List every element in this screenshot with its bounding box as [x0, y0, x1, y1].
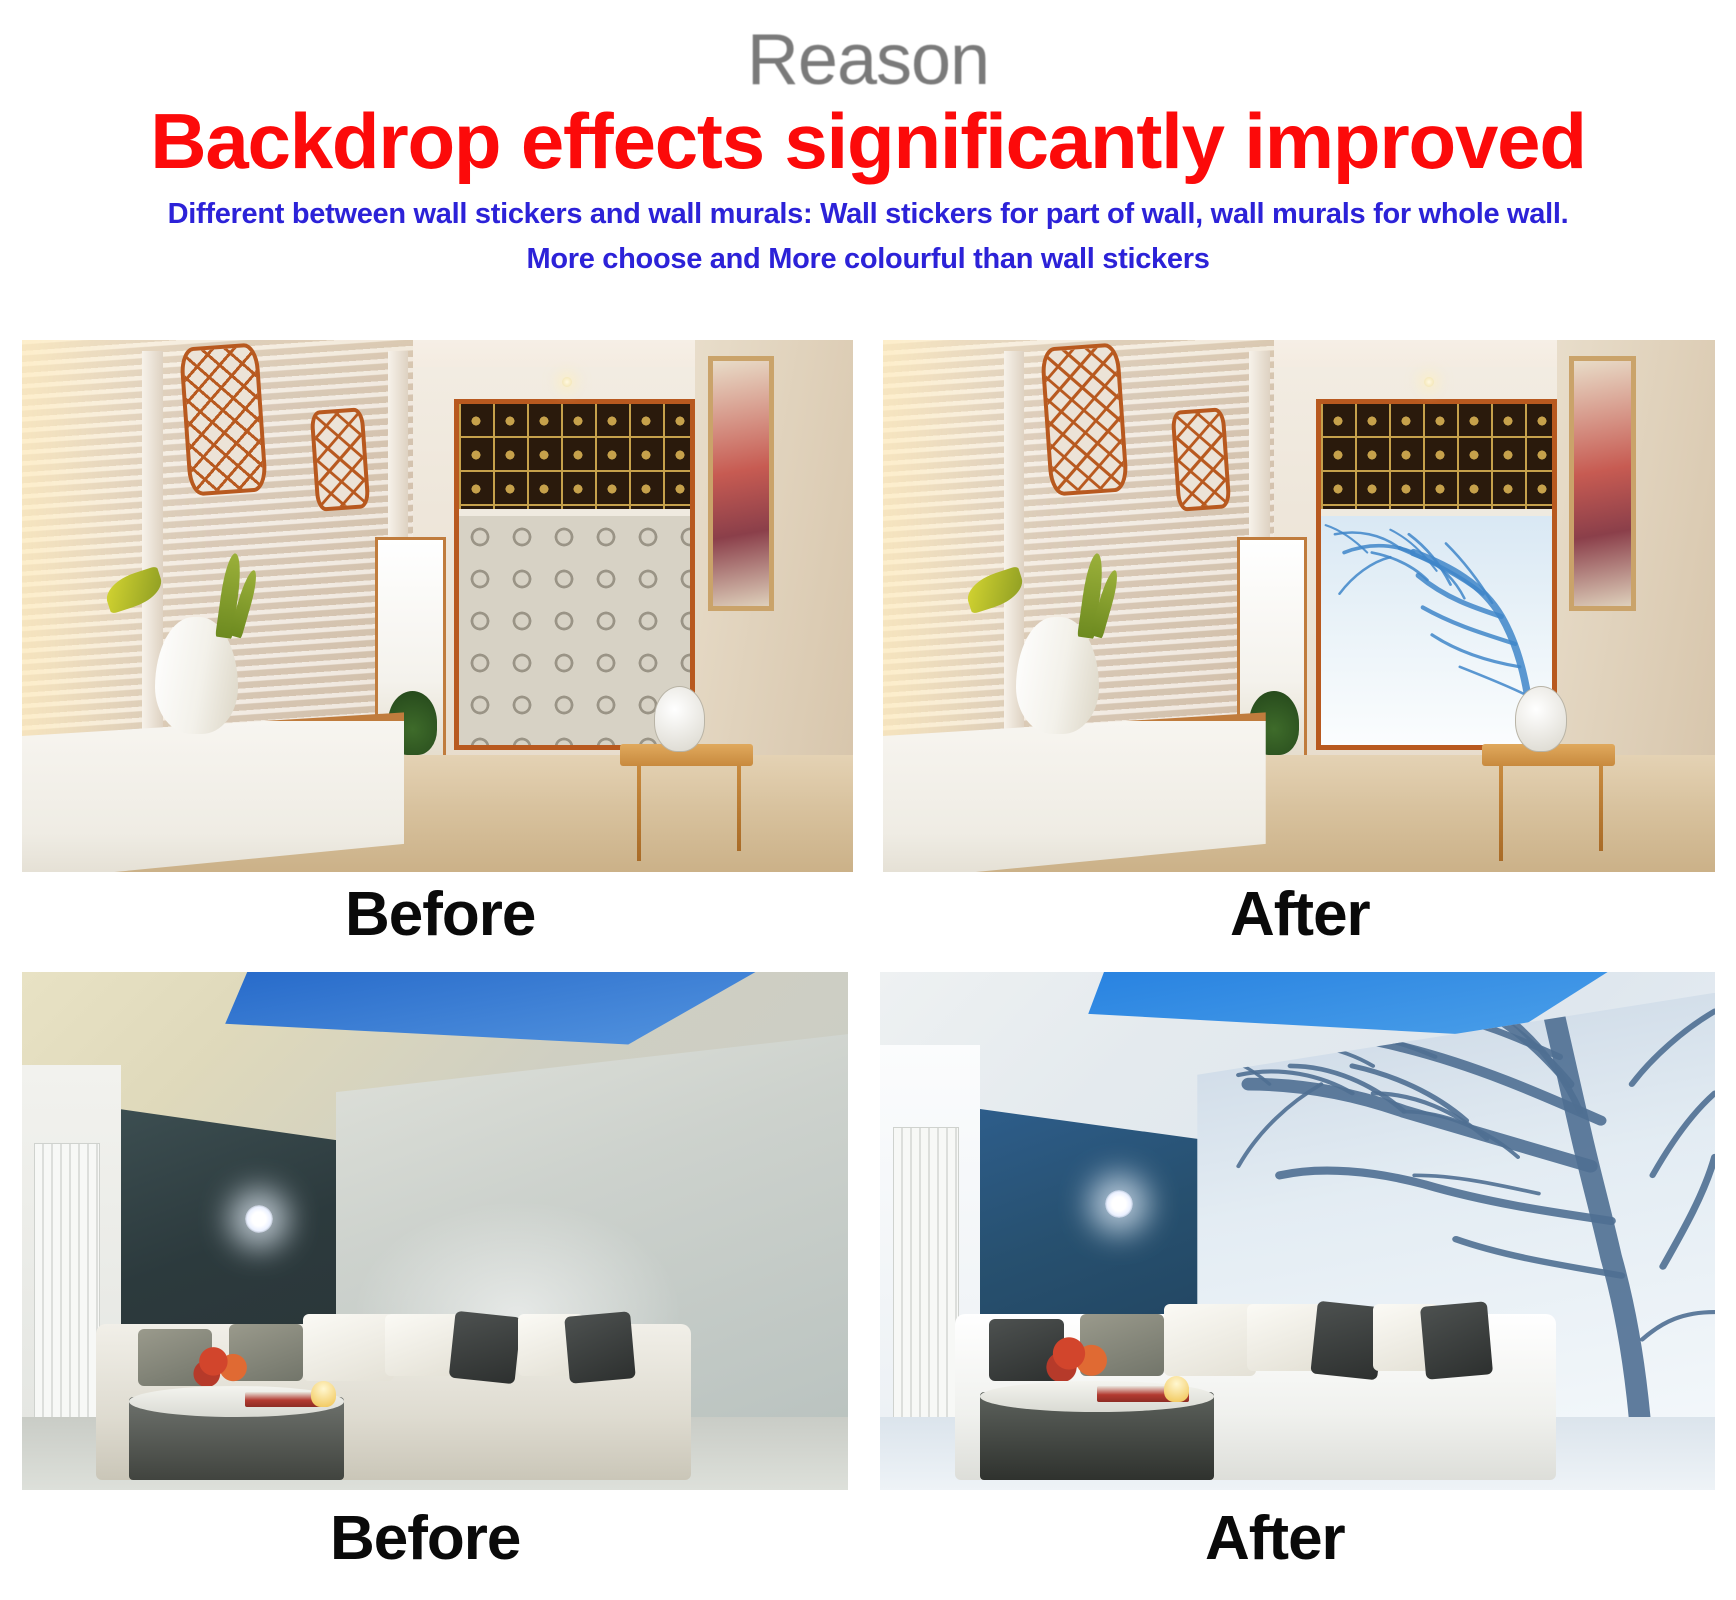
photo-lounge-before	[22, 972, 848, 1490]
wall-post-left	[142, 351, 163, 777]
book-stack	[1097, 1386, 1189, 1402]
flower-arrangement	[1039, 1335, 1114, 1382]
floor	[883, 755, 1715, 872]
candle	[311, 1381, 336, 1407]
sofa-cushion-7	[1420, 1301, 1493, 1379]
framed-artwork	[1569, 356, 1636, 611]
tree-mural-graphic	[1197, 993, 1715, 1449]
sectional-sofa	[955, 1314, 1556, 1480]
floor	[880, 1417, 1715, 1490]
console-cabinet	[22, 712, 404, 872]
wall-post-left	[1004, 351, 1025, 777]
patterned-wallpaper	[459, 516, 690, 745]
hallway-window	[1237, 537, 1308, 760]
book-stack	[245, 1392, 328, 1408]
ceramic-vase	[155, 617, 238, 734]
yellow-leaf-lamp	[963, 566, 1028, 614]
back-wall	[1274, 367, 1590, 771]
carved-transom-panel	[1321, 404, 1552, 510]
console-cabinet	[883, 712, 1266, 872]
glass-wall	[113, 1102, 344, 1434]
sofa-cushion-6	[1373, 1304, 1440, 1371]
hanging-spotlight	[1105, 1190, 1133, 1218]
framed-artwork	[708, 356, 774, 611]
yellow-leaf-lamp	[102, 566, 167, 614]
eyebrow-title: Reason	[0, 0, 1736, 98]
caption-hallway-before: Before	[345, 884, 535, 946]
plant-blade-1	[216, 552, 244, 639]
feature-wall-frame	[454, 399, 695, 750]
blue-skylight	[972, 972, 1657, 1169]
ceiling-downlight	[1424, 377, 1434, 387]
subtitle-line-2: More choose and More colourful than wall…	[0, 237, 1736, 282]
left-textured-wall	[883, 340, 1274, 872]
carved-transom-panel	[459, 404, 690, 510]
radiator	[893, 1127, 960, 1427]
tree-branch-graphic	[1321, 516, 1552, 745]
ceiling	[883, 340, 1715, 441]
sofa-cushion-5	[448, 1311, 521, 1385]
left-wall	[880, 1045, 980, 1490]
blue-tree-wall-mural	[1321, 516, 1552, 745]
page-title: Backdrop effects significantly improved	[0, 102, 1736, 180]
window-plant	[388, 691, 438, 755]
glass-wall	[972, 1102, 1206, 1423]
hallway-window	[375, 537, 446, 760]
plain-feature-wall	[336, 1034, 848, 1448]
candle	[1164, 1376, 1189, 1402]
decorative-urn	[654, 686, 706, 752]
hanging-spotlight	[245, 1205, 273, 1233]
sofa-cushion-6	[518, 1314, 584, 1376]
room-ambience	[22, 972, 848, 1490]
tree-mural-feature-wall	[1197, 993, 1715, 1449]
photo-hallway-before	[22, 340, 853, 872]
subtitle-line-1: Different between wall stickers and wall…	[0, 192, 1736, 237]
coffee-table-top	[129, 1386, 344, 1417]
photo-hallway-after	[883, 340, 1715, 872]
sofa-cushion-2	[1080, 1314, 1164, 1376]
sofa-cushion-4	[385, 1314, 459, 1376]
side-table-leg-1	[1499, 766, 1503, 862]
sofa-cushion-5	[1311, 1300, 1385, 1379]
radiator	[34, 1143, 100, 1438]
wall-light-pool	[352, 1200, 682, 1428]
decorative-urn	[1515, 686, 1567, 752]
coffee-table-top	[980, 1381, 1214, 1412]
sofa-cushion-3	[1164, 1304, 1256, 1377]
sofa-cushion-7	[564, 1311, 636, 1384]
photo-lounge-after	[880, 972, 1715, 1490]
floor	[22, 755, 853, 872]
wall-ornament-small	[309, 407, 370, 512]
coffee-table	[129, 1397, 344, 1480]
sofa-cushion-1	[138, 1329, 212, 1386]
coffee-table	[980, 1392, 1214, 1480]
right-wall	[1557, 340, 1715, 808]
wall-ornament-large	[1040, 343, 1129, 497]
ceramic-vase	[1016, 617, 1099, 734]
caption-lounge-before: Before	[330, 1508, 520, 1570]
plant-blade-2	[1090, 568, 1122, 638]
back-wall	[413, 367, 729, 771]
side-table	[1482, 744, 1615, 765]
side-table	[620, 744, 753, 765]
side-table-leg-2	[1599, 766, 1603, 851]
flower-arrangement	[187, 1345, 253, 1386]
sofa-cushion-3	[303, 1314, 394, 1381]
sofa-cushion-2	[229, 1324, 303, 1381]
plant-blade-1	[1077, 552, 1105, 639]
sofa-cushion-4	[1247, 1304, 1322, 1371]
header: Reason Backdrop effects significantly im…	[0, 0, 1736, 282]
subtitle-block: Different between wall stickers and wall…	[0, 192, 1736, 282]
room-ambience	[880, 972, 1715, 1490]
plant-blade-2	[229, 568, 261, 638]
floor	[22, 1417, 848, 1490]
wall-ornament-large	[179, 343, 268, 497]
ceiling-downlight	[562, 377, 572, 387]
blue-skylight	[113, 972, 774, 1169]
side-table-leg-2	[737, 766, 741, 851]
left-textured-wall	[22, 340, 413, 872]
wall-post-right	[388, 351, 409, 787]
ceiling	[22, 340, 853, 441]
caption-hallway-after: After	[1230, 884, 1370, 946]
wall-post-right	[1249, 351, 1270, 787]
left-wall	[22, 1065, 121, 1490]
right-wall	[695, 340, 853, 808]
feature-wall-frame	[1316, 399, 1557, 750]
sectional-sofa	[96, 1324, 691, 1479]
caption-lounge-after: After	[1205, 1508, 1345, 1570]
window-plant	[1249, 691, 1299, 755]
sofa-cushion-1	[989, 1319, 1064, 1381]
wall-ornament-small	[1171, 407, 1232, 512]
side-table-leg-1	[637, 766, 641, 862]
